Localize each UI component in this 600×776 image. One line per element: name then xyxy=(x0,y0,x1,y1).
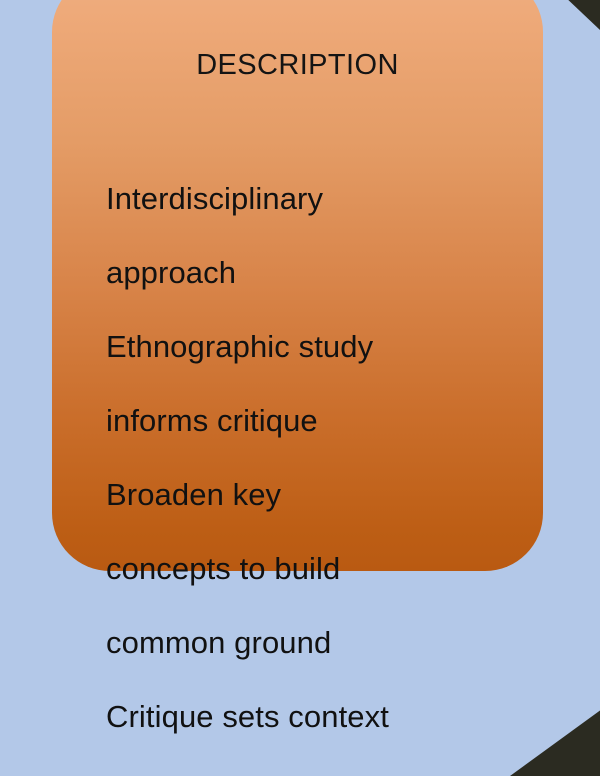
description-line: common ground xyxy=(106,606,576,680)
description-line: Ethnographic study xyxy=(106,310,576,384)
description-line: for need formulation xyxy=(106,754,576,776)
description-line: Interdisciplinary xyxy=(106,162,576,236)
description-line: Broaden key xyxy=(106,458,576,532)
dark-corner-wedge-top-right xyxy=(556,0,600,30)
slide-canvas: DESCRIPTION Interdisciplinary approach E… xyxy=(0,0,600,776)
page-title: DESCRIPTION xyxy=(52,48,543,82)
description-line: Critique sets context xyxy=(106,680,576,754)
description-line: informs critique xyxy=(106,384,576,458)
description-body: Interdisciplinary approach Ethnographic … xyxy=(106,162,576,776)
description-line: concepts to build xyxy=(106,532,576,606)
description-line: approach xyxy=(106,236,576,310)
